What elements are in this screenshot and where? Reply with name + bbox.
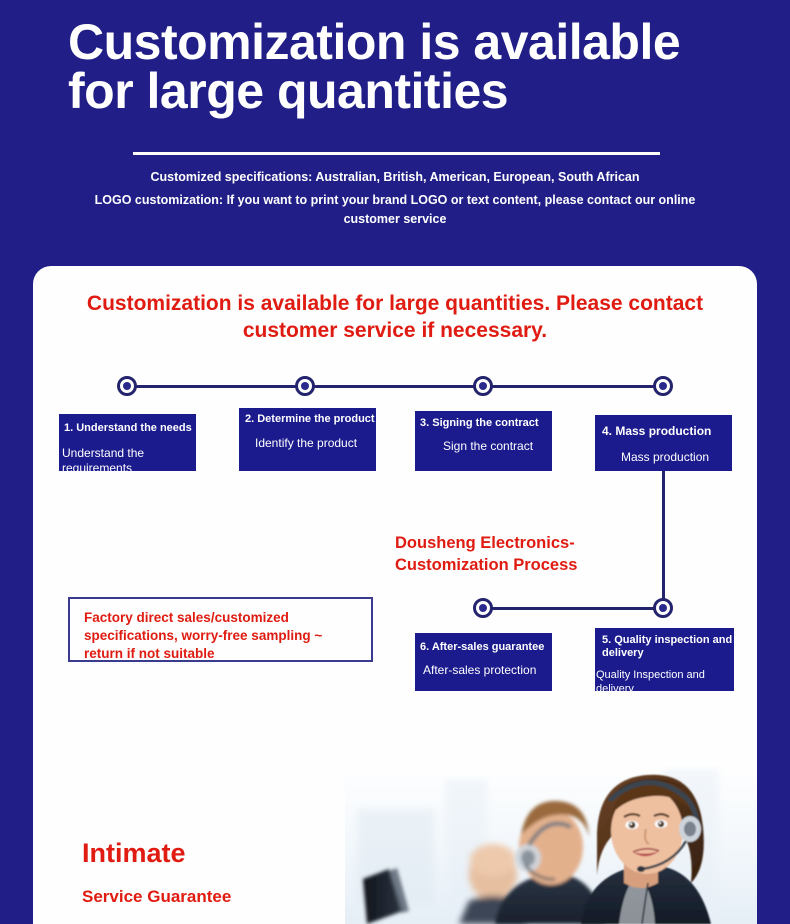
process-step-4: 4. Mass production Mass production [595,415,732,471]
call-center-agents-photo [345,761,757,924]
process-step-1-title: 1. Understand the needs [64,422,196,435]
process-label: Dousheng Electronics- Customization Proc… [395,532,635,577]
process-step-3-desc: Sign the contract [443,439,552,453]
process-step-5: 5. Quality inspection and delivery Quali… [595,628,734,691]
promise-text: Factory direct sales/customized specific… [84,609,364,664]
hero-title-line-2: for large quantities [68,63,508,119]
process-step-2-desc: Identify the product [255,436,376,450]
timeline-connector-vertical [662,470,665,608]
hero-title-line-1: Customization is available [68,14,680,70]
hero-banner: Customization is available for large qua… [0,0,790,266]
guarantee-heading: Service Guarantee [82,888,231,905]
process-label-line-2: Customization Process [395,556,577,574]
intimate-heading: Intimate [82,840,186,867]
process-step-3-title: 3. Signing the contract [420,417,552,430]
timeline-dot-1 [117,376,137,396]
timeline-dot-3 [473,376,493,396]
content-card: Customization is available for large qua… [33,266,757,924]
process-step-2-title: 2. Determine the product [245,413,376,426]
process-step-6-desc: After-sales protection [423,663,552,677]
hero-subtitle: Customized specifications: Australian, B… [70,168,720,228]
timeline-dot-5 [653,598,673,618]
timeline-connector-bottom [483,607,663,610]
process-step-6: 6. After-sales guarantee After-sales pro… [415,633,552,691]
timeline-dot-6 [473,598,493,618]
timeline-connector-top [127,385,665,388]
process-step-1: 1. Understand the needs Understand the r… [59,414,196,471]
process-step-5-title: 5. Quality inspection and delivery [602,634,734,660]
promise-box: Factory direct sales/customized specific… [68,597,373,662]
process-label-line-1: Dousheng Electronics- [395,534,575,552]
hero-subtitle-line-2: LOGO customization: If you want to print… [70,191,720,229]
process-step-6-title: 6. After-sales guarantee [420,641,552,654]
process-step-4-desc: Mass production [621,450,732,464]
process-step-2: 2. Determine the product Identify the pr… [239,408,376,471]
process-step-1-desc: Understand the requirements [62,446,196,471]
page-title: Customization is available for large qua… [68,18,748,116]
timeline-dot-4 [653,376,673,396]
process-step-5-desc: Quality Inspection and delivery [596,669,734,691]
timeline-dot-2 [295,376,315,396]
hero-subtitle-line-1: Customized specifications: Australian, B… [151,170,640,184]
hero-divider [133,152,660,155]
card-headline: Customization is available for large qua… [63,290,727,345]
process-step-4-title: 4. Mass production [602,424,732,438]
process-step-3: 3. Signing the contract Sign the contrac… [415,411,552,471]
